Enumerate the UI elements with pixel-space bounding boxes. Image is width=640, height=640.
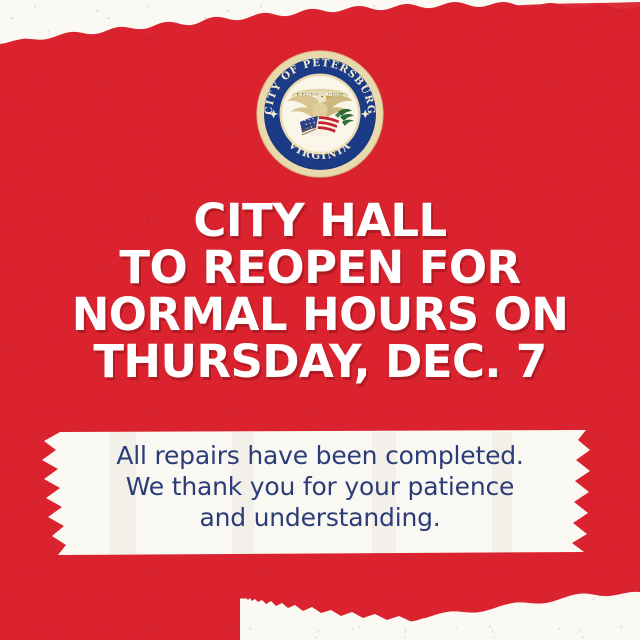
headline-line-1: CITY HALL	[0, 197, 640, 244]
city-seal: CITY OF PETERSBURG VIRGINIA E PLURIBUS U…	[256, 50, 384, 178]
message-line-3: and understanding.	[70, 502, 570, 533]
message-text: All repairs have been completed. We than…	[70, 440, 570, 533]
announcement-poster: CITY OF PETERSBURG VIRGINIA E PLURIBUS U…	[0, 0, 640, 640]
headline-line-4: THURSDAY, DEC. 7	[0, 338, 640, 385]
message-line-2: We thank you for your patience	[70, 471, 570, 502]
headline-line-2: TO REOPEN FOR	[0, 244, 640, 291]
message-line-1: All repairs have been completed.	[70, 440, 570, 471]
headline: CITY HALL TO REOPEN FOR NORMAL HOURS ON …	[0, 197, 640, 385]
headline-line-3: NORMAL HOURS ON	[0, 291, 640, 338]
